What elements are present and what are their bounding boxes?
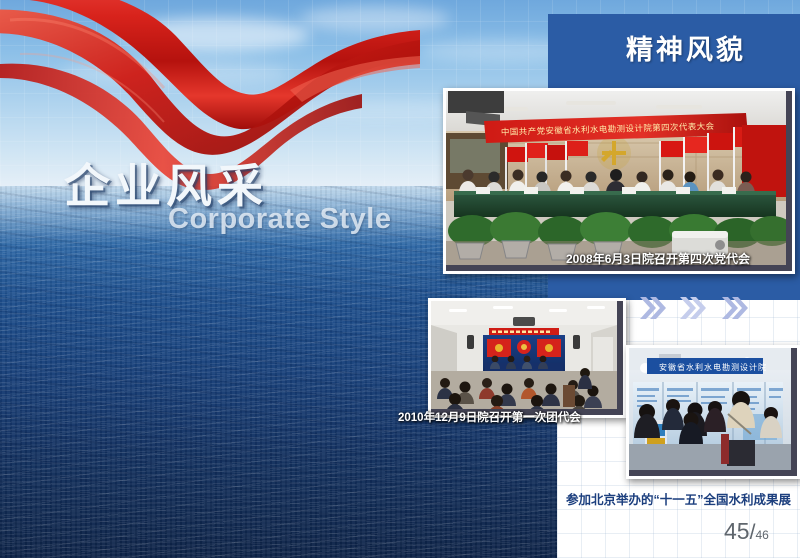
photo-party-congress-image: 中国共产党安徽省水利水电勘测设计院第四次代表大会 bbox=[446, 91, 786, 265]
page-number: 45/46 bbox=[724, 518, 769, 545]
slide-sub-title: Corporate Style bbox=[168, 203, 391, 236]
photo-caption-youth-congress: 2010年12月9日院召开第一次团代会 bbox=[398, 409, 581, 425]
photo-party-congress: 中国共产党安徽省水利水电勘测设计院第四次代表大会 bbox=[443, 88, 795, 274]
photo-youth-congress-image bbox=[431, 301, 617, 409]
photo-caption-exhibition: 参加北京举办的“十一五”全国水利成果展 bbox=[566, 489, 791, 508]
svg-text:安徽省水利水电勘测设计院: 安徽省水利水电勘测设计院 bbox=[659, 362, 767, 372]
double-chevron-right-icon bbox=[638, 294, 758, 322]
photo-caption-party-congress: 2008年6月3日院召开第四次党代会 bbox=[566, 250, 750, 267]
photo-exhibition-image: 安徽省水利水电勘测设计院 bbox=[629, 348, 791, 470]
presentation-slide: 企业风采 Corporate Style 精神风貌 bbox=[0, 0, 800, 558]
photo-exhibition: 安徽省水利水电勘测设计院 bbox=[626, 345, 800, 479]
page-number-total: 46 bbox=[755, 528, 768, 542]
page-number-current: 45 bbox=[724, 518, 750, 544]
section-title: 精神风貌 bbox=[626, 28, 746, 67]
photo-youth-congress bbox=[428, 298, 626, 418]
